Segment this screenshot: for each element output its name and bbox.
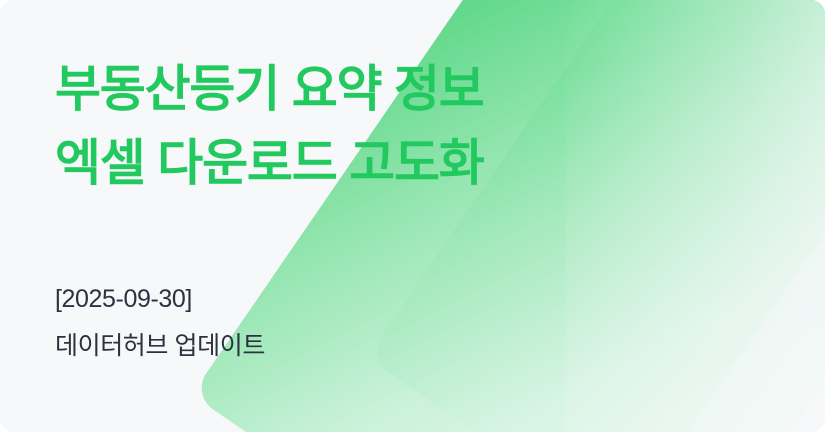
publish-date: [2025-09-30] (55, 276, 265, 323)
banner-content: 부동산등기 요약 정보 엑셀 다운로드 고도화 [2025-09-30] 데이터… (55, 0, 615, 432)
banner-meta: [2025-09-30] 데이터허브 업데이트 (55, 276, 265, 370)
headline-line-2: 엑셀 다운로드 고도화 (55, 126, 484, 200)
publish-source: 데이터허브 업데이트 (55, 323, 265, 370)
headline-line-1: 부동산등기 요약 정보 (55, 52, 484, 126)
announcement-banner: 부동산등기 요약 정보 엑셀 다운로드 고도화 [2025-09-30] 데이터… (0, 0, 825, 432)
banner-headline: 부동산등기 요약 정보 엑셀 다운로드 고도화 (55, 52, 484, 200)
